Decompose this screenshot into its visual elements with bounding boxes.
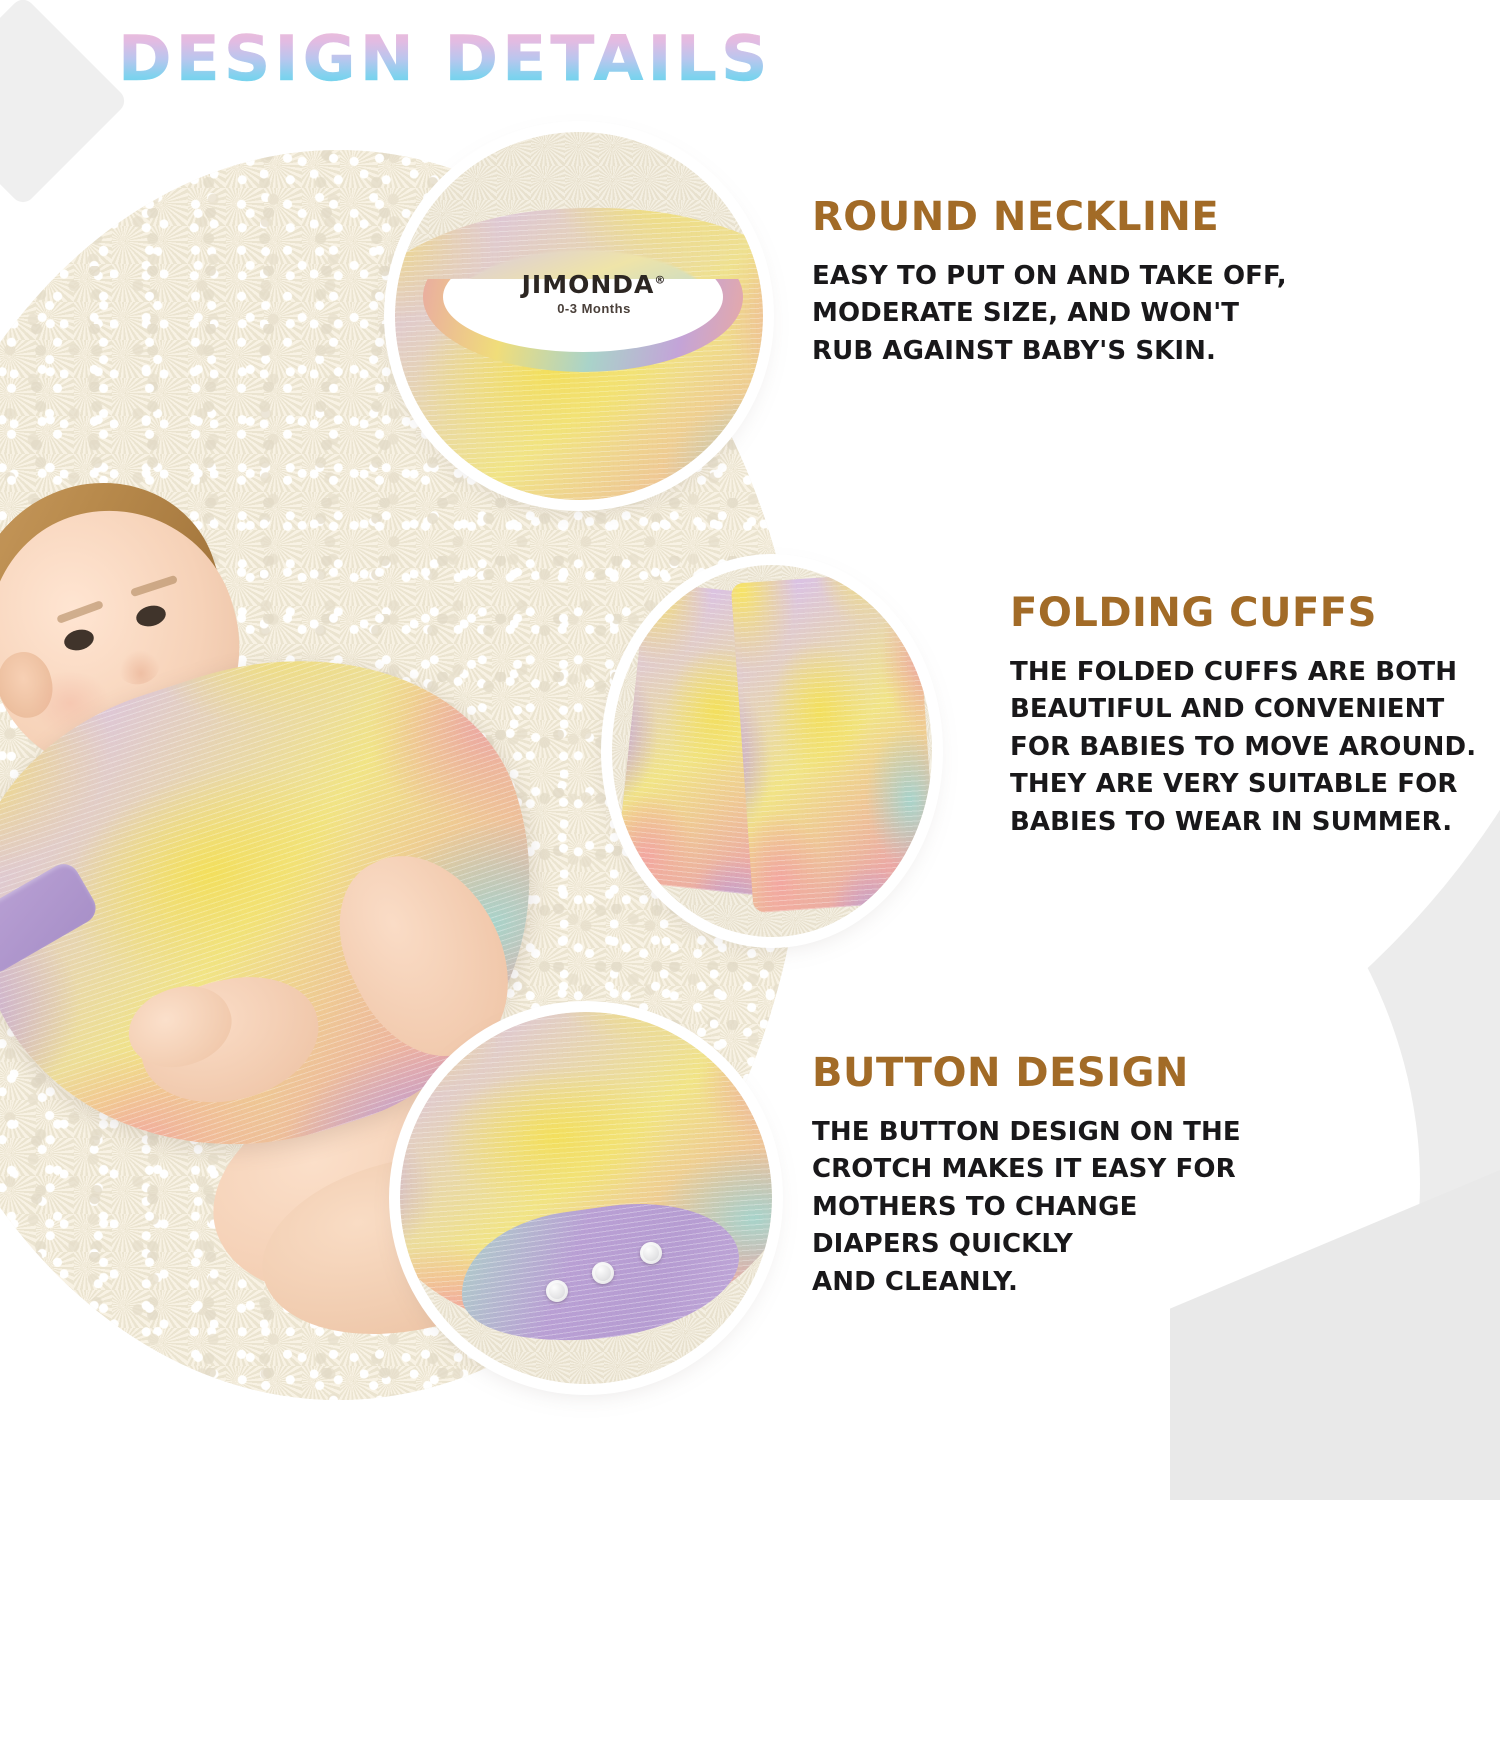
page-title-wrap: DESIGN DETAILS <box>118 28 746 90</box>
detail-circle-cuffs-image <box>612 565 932 937</box>
snap-button-icon-3 <box>640 1242 662 1264</box>
detail-circle-cuffs <box>612 565 932 937</box>
detail-circle-neckline-image: JIMONDA® 0-3 Months <box>395 132 763 500</box>
page-title: DESIGN DETAILS <box>118 28 772 90</box>
brand-neck-tag: JIMONDA® 0-3 Months <box>509 272 679 328</box>
feature-block-button-design: BUTTON DESIGN THE BUTTON DESIGN ON THE C… <box>812 1052 1332 1301</box>
feature-block-folding-cuffs: FOLDING CUFFS THE FOLDED CUFFS ARE BOTH … <box>1010 592 1500 841</box>
cuff-waffle-texture-front <box>731 571 932 913</box>
feature-heading-folding-cuffs: FOLDING CUFFS <box>1010 592 1500 634</box>
registered-trademark-icon: ® <box>654 274 666 287</box>
detail-circle-button <box>400 1012 772 1384</box>
snap-button-icon-1 <box>546 1280 568 1302</box>
brand-name: JIMONDA® <box>509 272 679 297</box>
detail-circle-button-image <box>400 1012 772 1384</box>
feature-heading-round-neckline: ROUND NECKLINE <box>812 196 1372 238</box>
feature-block-round-neckline: ROUND NECKLINE EASY TO PUT ON AND TAKE O… <box>812 196 1372 370</box>
size-label: 0-3 Months <box>509 301 679 316</box>
cuff-sleeve-front <box>731 571 932 913</box>
infographic-canvas: DESIGN DETAILS <box>0 0 1500 1500</box>
snap-button-icon-2 <box>592 1262 614 1284</box>
crotch-button-artwork <box>400 1012 772 1384</box>
feature-body-folding-cuffs: THE FOLDED CUFFS ARE BOTH BEAUTIFUL AND … <box>1010 654 1500 841</box>
feature-body-button-design: THE BUTTON DESIGN ON THE CROTCH MAKES IT… <box>812 1114 1332 1301</box>
brand-name-text: JIMONDA <box>522 270 655 299</box>
feature-body-round-neckline: EASY TO PUT ON AND TAKE OFF, MODERATE SI… <box>812 258 1372 370</box>
detail-circle-neckline: JIMONDA® 0-3 Months <box>395 132 763 500</box>
folded-cuff-artwork <box>612 565 932 937</box>
feature-heading-button-design: BUTTON DESIGN <box>812 1052 1332 1094</box>
